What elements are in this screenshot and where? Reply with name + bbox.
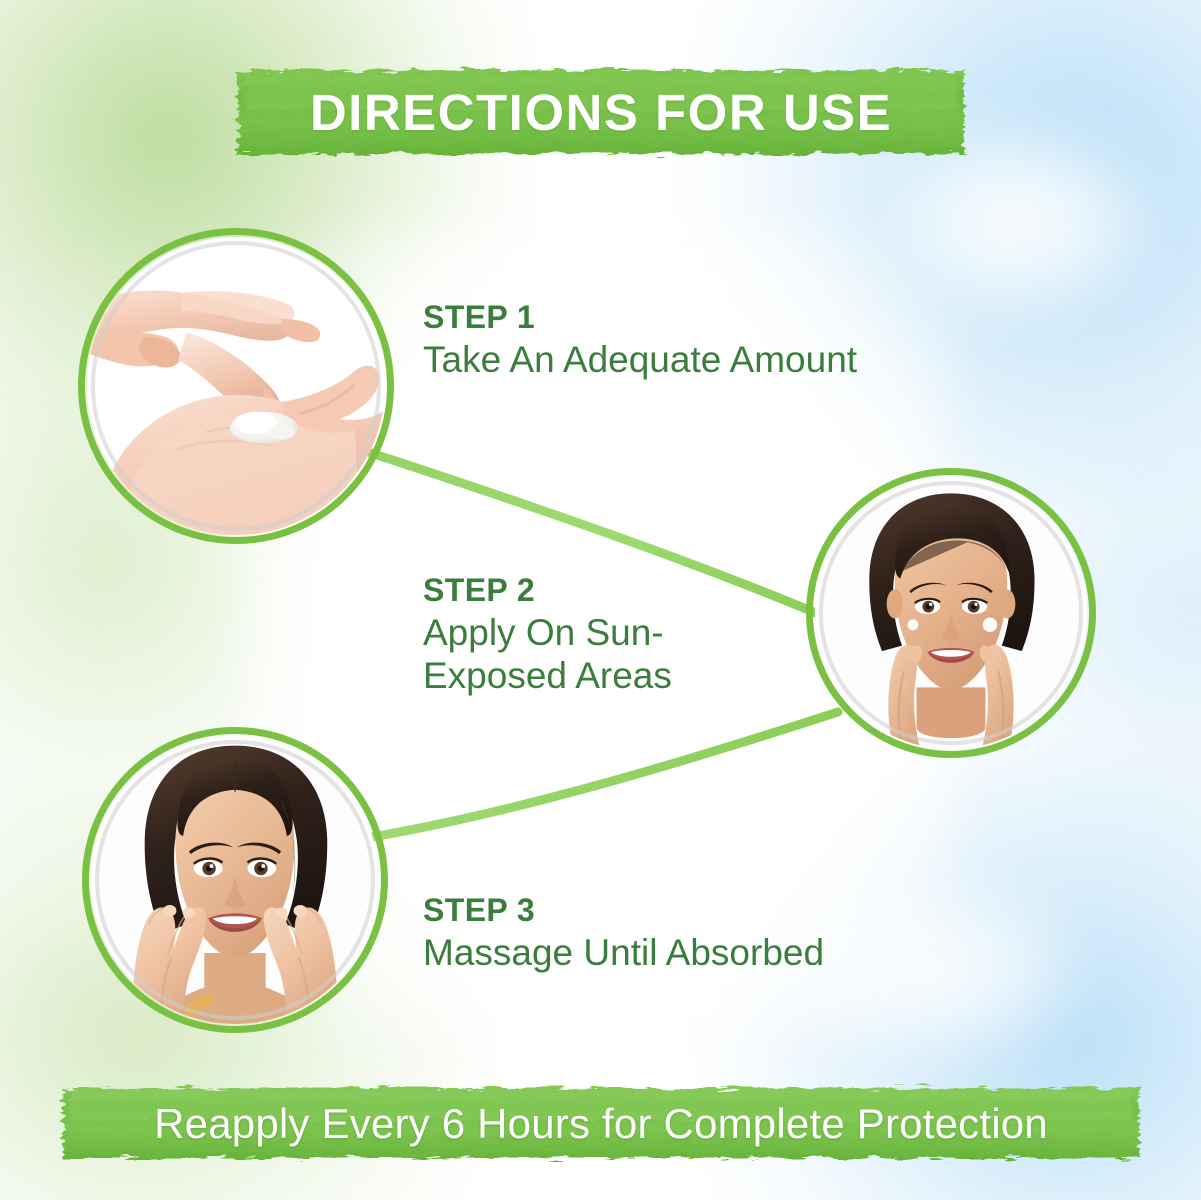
step-3-label: STEP 3 <box>423 893 824 929</box>
footer-banner: Reapply Every 6 Hours for Complete Prote… <box>58 1082 1144 1166</box>
step-1-text-block: STEP 1 Take An Adequate Amount <box>423 300 857 381</box>
step-3-photo-circle <box>82 727 388 1033</box>
step-2-description-line-2: Exposed Areas <box>423 654 672 698</box>
step-1-label: STEP 1 <box>423 300 857 336</box>
step-3-description: Massage Until Absorbed <box>423 931 824 975</box>
step-3-text-block: STEP 3 Massage Until Absorbed <box>423 893 824 974</box>
step-2-text-block: STEP 2 Apply On Sun- Exposed Areas <box>423 573 672 698</box>
step-2-outer-ring <box>806 468 1096 758</box>
white-cloud-wash-bottom <box>781 880 1081 1060</box>
step-1-outer-ring <box>78 228 394 544</box>
page-title: DIRECTIONS FOR USE <box>310 83 892 142</box>
connector-step3-to-step2 <box>366 712 838 838</box>
step-2-photo-circle <box>806 468 1096 758</box>
step-1-photo-circle <box>78 228 394 544</box>
footer-note: Reapply Every 6 Hours for Complete Prote… <box>154 1100 1048 1148</box>
step-2-label: STEP 2 <box>423 573 672 609</box>
header-banner: DIRECTIONS FOR USE <box>232 62 970 162</box>
step-1-description: Take An Adequate Amount <box>423 338 857 382</box>
step-2-description-line-1: Apply On Sun- <box>423 611 672 655</box>
directions-for-use-infographic: DIRECTIONS FOR USE <box>0 0 1201 1200</box>
step-3-outer-ring <box>82 727 388 1033</box>
